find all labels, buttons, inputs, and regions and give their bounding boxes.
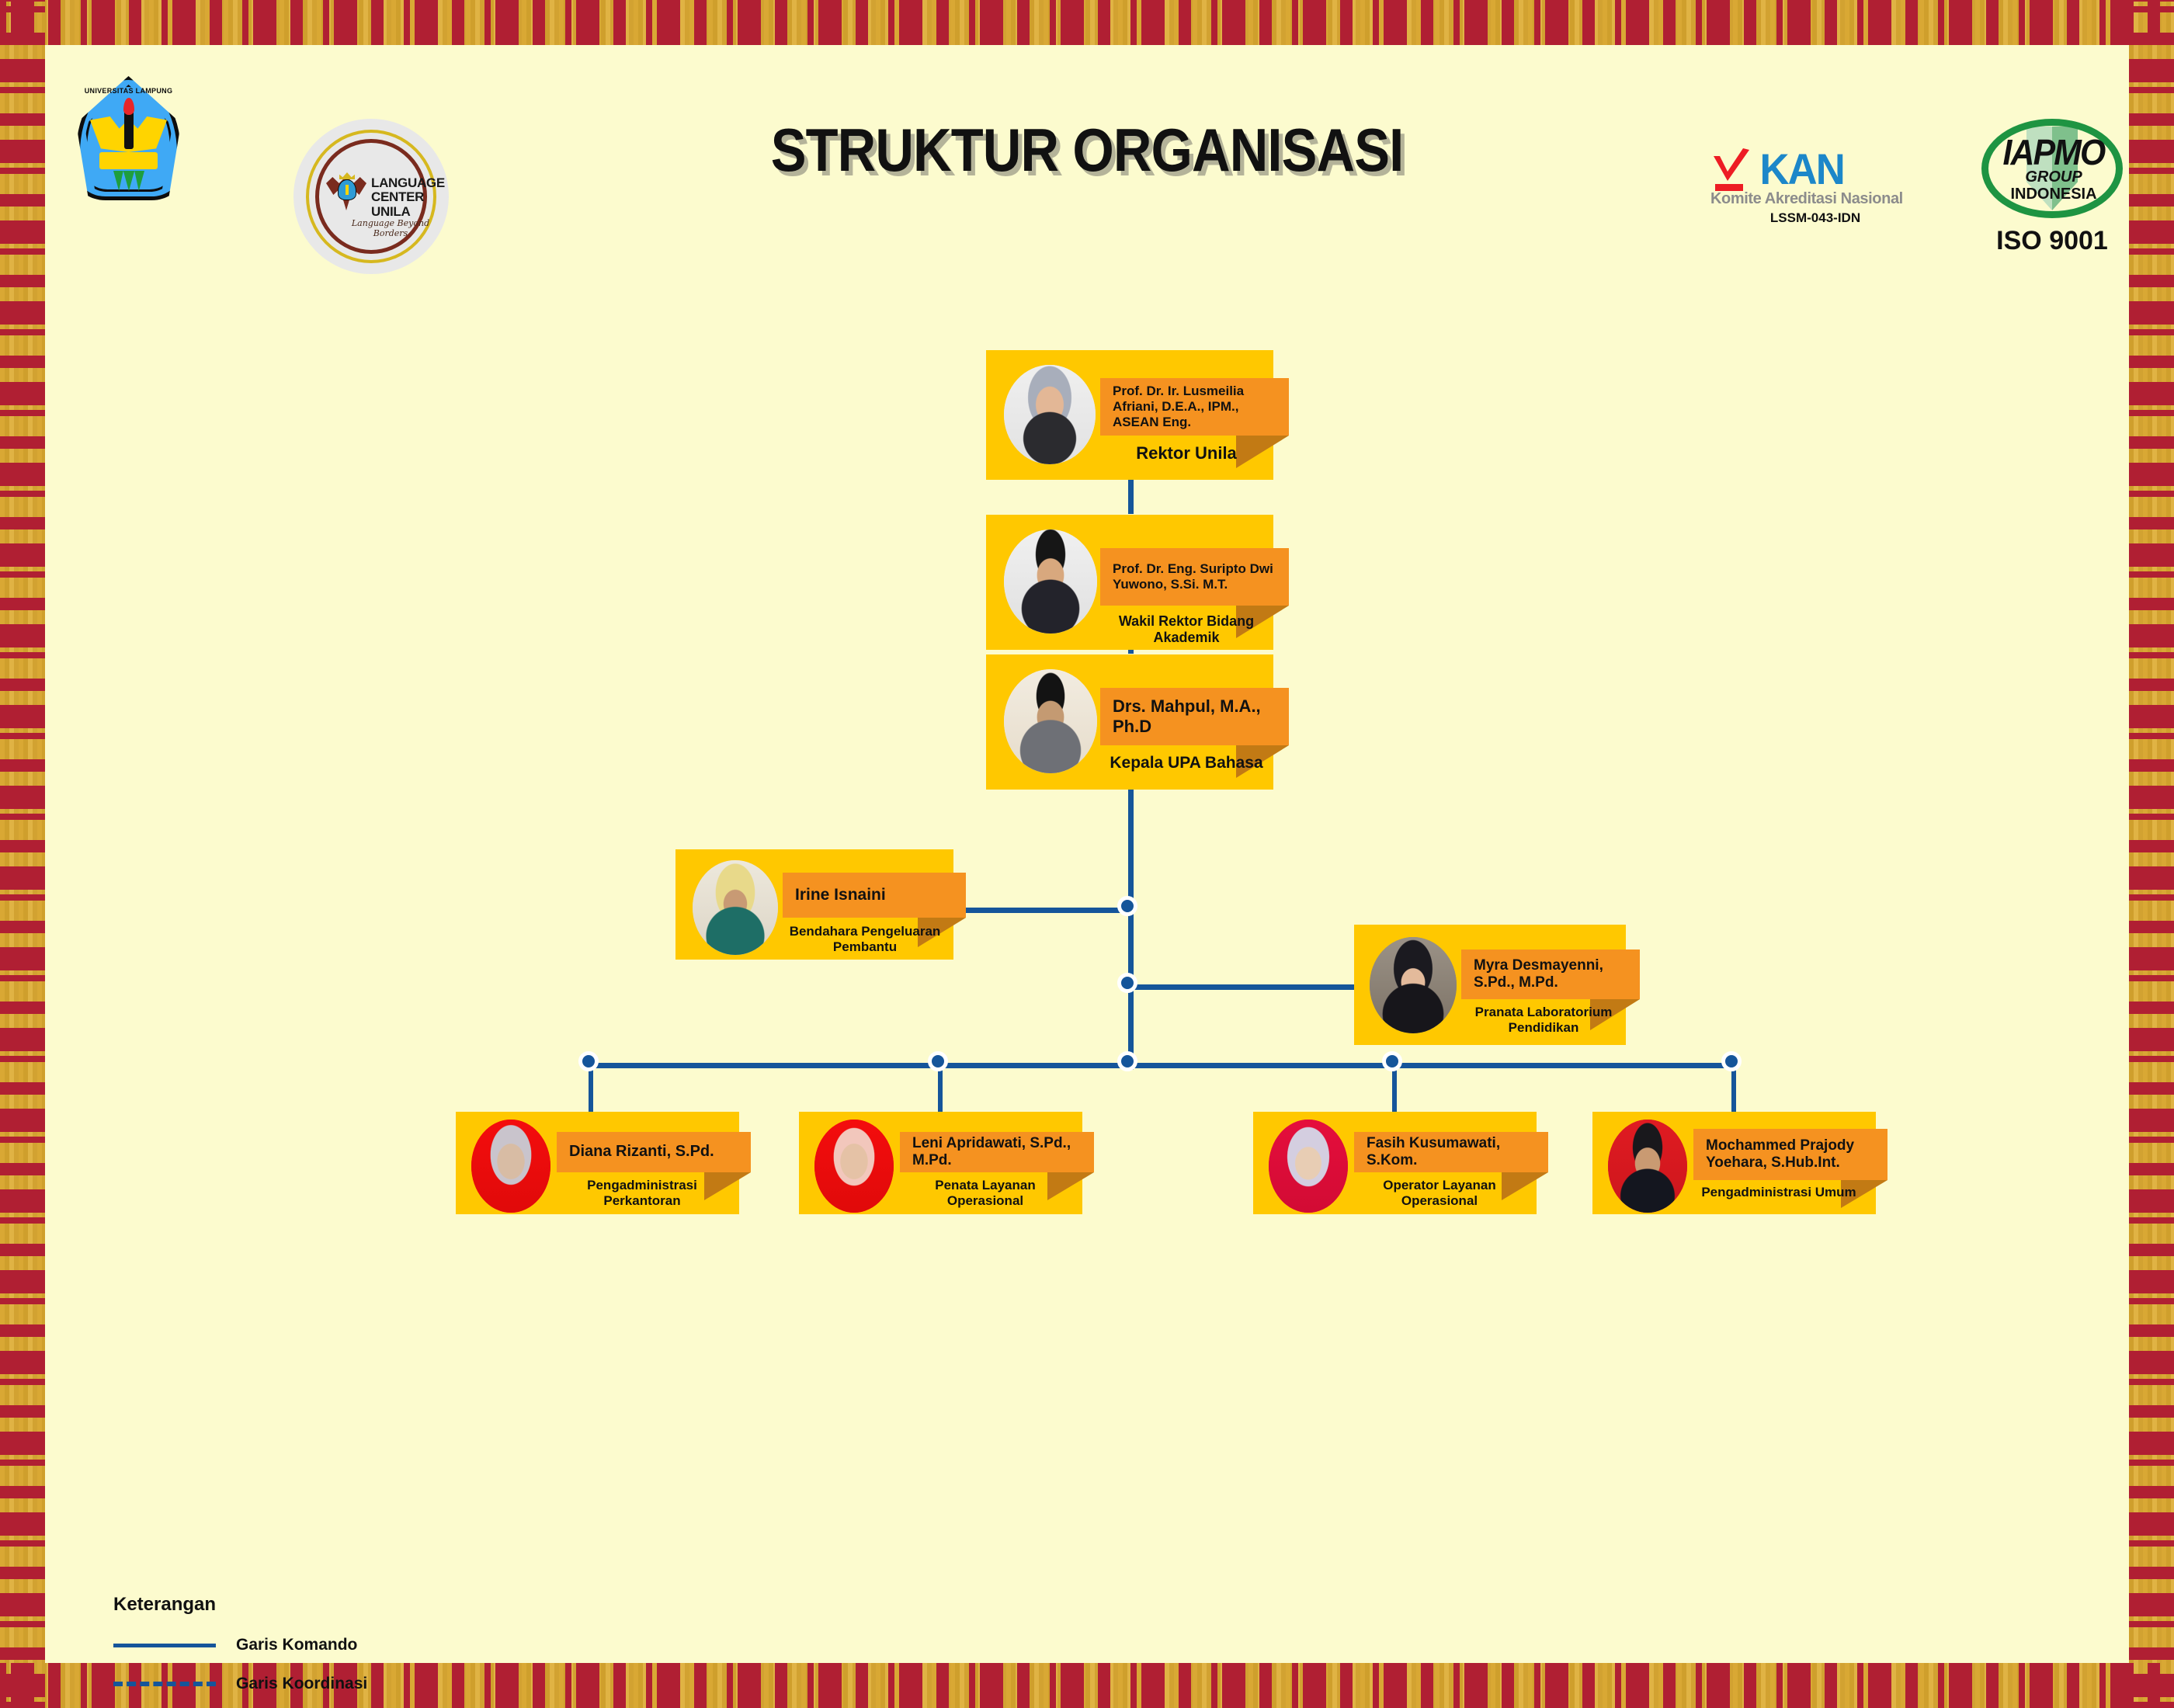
node-role: Pengadministrasi Perkantoran (557, 1178, 728, 1209)
org-node-rektor[interactable]: Prof. Dr. Ir. Lusmeilia Afriani, D.E.A.,… (986, 350, 1312, 482)
tapis-border-top (0, 0, 2174, 45)
node-name: Fasih Kusumawati, S.Kom. (1367, 1135, 1536, 1169)
poster-root: STRUKTUR ORGANISASI UNIVERSITAS LAMPUNG … (0, 0, 2174, 1708)
node-name: Prof. Dr. Eng. Suripto Dwi Yuwono, S.Si.… (1113, 561, 1276, 592)
avatar (693, 860, 778, 955)
connector-branch-pranata (1130, 984, 1356, 990)
legend-label: Garis Koordinasi (236, 1675, 367, 1693)
node-name-banner: Irine Isnaini (783, 873, 966, 918)
org-node-wakil-rektor[interactable]: Prof. Dr. Eng. Suripto Dwi Yuwono, S.Si.… (986, 515, 1312, 653)
node-name: Mochammed Prajody Yoehara, S.Hub.Int. (1706, 1137, 1875, 1172)
node-name-banner: Diana Rizanti, S.Pd. (557, 1132, 751, 1172)
node-name: Irine Isnaini (795, 886, 886, 904)
node-name-banner: Leni Apridawati, S.Pd., M.Pd. (900, 1132, 1094, 1172)
node-role: Kepala UPA Bahasa (1100, 754, 1273, 773)
node-role: Pranata Laboratorium Pendidikan (1461, 1005, 1626, 1036)
avatar (1004, 529, 1097, 634)
node-role: Penata Layanan Operasional (900, 1178, 1071, 1209)
avatar (1004, 669, 1097, 773)
node-name: Myra Desmayenni, S.Pd., M.Pd. (1474, 957, 1627, 991)
node-role: Pengadministrasi Umum (1693, 1185, 1864, 1200)
org-node-pengadministrasi-umum[interactable]: Mochammed Prajody Yoehara, S.Hub.Int. Pe… (1592, 1112, 1919, 1220)
avatar (471, 1120, 550, 1213)
avatar (1004, 365, 1096, 464)
junction-dot-bendahara (1117, 896, 1137, 916)
connector-rektor-warek (1128, 480, 1134, 514)
junction-dot-staff1 (578, 1051, 599, 1071)
junction-dot-staff3 (1382, 1051, 1402, 1071)
solid-line-icon (113, 1644, 216, 1647)
avatar (1370, 937, 1457, 1033)
node-role: Wakil Rektor Bidang Akademik (1100, 613, 1273, 646)
node-name-banner: Fasih Kusumawati, S.Kom. (1354, 1132, 1548, 1172)
legend-label: Garis Komando (236, 1636, 357, 1654)
tapis-border-right (2129, 0, 2174, 1708)
poster-canvas: STRUKTUR ORGANISASI UNIVERSITAS LAMPUNG … (45, 45, 2129, 1663)
node-name-banner: Myra Desmayenni, S.Pd., M.Pd. (1461, 949, 1640, 999)
node-name: Diana Rizanti, S.Pd. (569, 1143, 714, 1161)
org-node-operator-layanan-operasional[interactable]: Fasih Kusumawati, S.Kom. Operator Layana… (1253, 1112, 1579, 1220)
connector-bottom-bar (589, 1063, 1736, 1068)
connector-drop-staff3 (1392, 1065, 1397, 1113)
org-node-pengadministrasi-perkantoran[interactable]: Diana Rizanti, S.Pd. Pengadministrasi Pe… (456, 1112, 782, 1220)
node-role: Bendahara Pengeluaran Pembantu (783, 924, 947, 955)
junction-dot-center (1117, 1051, 1137, 1071)
org-node-pranata-lab[interactable]: Myra Desmayenni, S.Pd., M.Pd. Pranata La… (1354, 925, 1696, 1047)
node-role: Operator Layanan Operasional (1354, 1178, 1525, 1209)
legend-item-komando: Garis Komando (113, 1636, 367, 1654)
node-name: Prof. Dr. Ir. Lusmeilia Afriani, D.E.A.,… (1113, 384, 1276, 429)
junction-dot-staff2 (928, 1051, 948, 1071)
node-name-banner: Prof. Dr. Ir. Lusmeilia Afriani, D.E.A.,… (1100, 378, 1289, 436)
tapis-border-left (0, 0, 45, 1708)
node-name-banner: Mochammed Prajody Yoehara, S.Hub.Int. (1693, 1129, 1887, 1180)
junction-dot-staff4 (1721, 1051, 1742, 1071)
junction-dot-pranata (1117, 973, 1137, 993)
connector-drop-staff1 (589, 1065, 593, 1113)
org-node-kepala-upa[interactable]: Drs. Mahpul, M.A., Ph.D Kepala UPA Bahas… (986, 654, 1312, 793)
org-node-bendahara[interactable]: Irine Isnaini Bendahara Pengeluaran Pemb… (675, 849, 1002, 967)
connector-drop-staff4 (1731, 1065, 1736, 1113)
avatar (814, 1120, 894, 1213)
legend-item-koordinasi: Garis Koordinasi (113, 1675, 367, 1693)
org-node-penata-layanan-operasional[interactable]: Leni Apridawati, S.Pd., M.Pd. Penata Lay… (799, 1112, 1125, 1220)
avatar (1269, 1120, 1348, 1213)
node-name-banner: Prof. Dr. Eng. Suripto Dwi Yuwono, S.Si.… (1100, 548, 1289, 606)
avatar (1608, 1120, 1687, 1213)
node-name: Leni Apridawati, S.Pd., M.Pd. (912, 1135, 1082, 1169)
legend: Keterangan Garis Komando Garis Koordinas… (113, 1594, 367, 1693)
node-name: Drs. Mahpul, M.A., Ph.D (1113, 696, 1276, 736)
connector-drop-staff2 (938, 1065, 943, 1113)
legend-title: Keterangan (113, 1594, 367, 1616)
dashed-line-icon (113, 1682, 216, 1686)
node-name-banner: Drs. Mahpul, M.A., Ph.D (1100, 688, 1289, 745)
node-role: Rektor Unila (1100, 443, 1273, 463)
org-chart: Prof. Dr. Ir. Lusmeilia Afriani, D.E.A.,… (45, 45, 2129, 1663)
